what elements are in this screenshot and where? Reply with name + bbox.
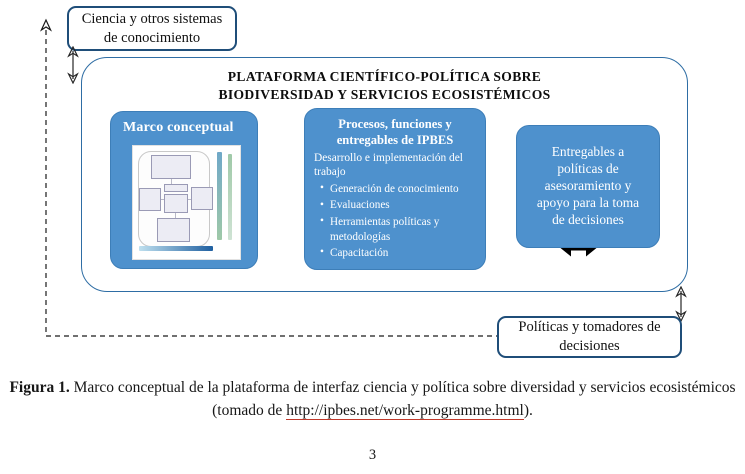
thumbnail-box-bottom [157, 218, 190, 242]
deliverables-line4: apoyo para la toma [537, 195, 639, 210]
figure-caption: Figura 1. Marco conceptual de la platafo… [0, 376, 745, 423]
platform-title-line1: PLATAFORMA CIENTÍFICO-POLÍTICA SOBRE [228, 69, 541, 84]
processes-functions-deliverables-panel[interactable]: Procesos, funciones y entregables de IPB… [304, 108, 486, 270]
platform-title: PLATAFORMA CIENTÍFICO-POLÍTICA SOBRE BIO… [82, 68, 687, 104]
figure-caption-text-after: ). [524, 402, 533, 419]
deliverables-line3: asesoramiento y [545, 178, 632, 193]
processes-bullet-list: Generación de conocimiento Evaluaciones … [313, 182, 477, 261]
conceptual-framework-title: Marco conceptual [123, 120, 234, 136]
page-number: 3 [0, 447, 745, 464]
deliverables-line5: de decisiones [552, 212, 624, 227]
list-item: Capacitación [330, 246, 477, 261]
thumbnail-box-right [191, 187, 213, 210]
science-label-line2: de conocimiento [104, 30, 200, 46]
processes-title-line2: entregables de IPBES [337, 133, 454, 147]
thumbnail-connector-1 [171, 179, 172, 184]
policy-label-line2: decisiones [559, 338, 619, 354]
platform-title-line2: BIODIVERSIDAD Y SERVICIOS ECOSISTÉMICOS [218, 87, 550, 102]
thumbnail-connector-3 [188, 199, 191, 200]
deliverables-line1: Entregables a [552, 144, 625, 159]
figure-diagram: Ciencia y otros sistemas de conocimiento… [0, 0, 745, 372]
science-knowledge-systems-label: Ciencia y otros sistemas de conocimiento [82, 10, 223, 47]
deliverables-line2: políticas de [557, 161, 618, 176]
processes-panel-subtitle: Desarrollo e implementación del trabajo [314, 152, 477, 179]
figure-caption-label: Figura 1. [9, 379, 69, 396]
thumbnail-connector-2 [161, 199, 164, 200]
arrow-up-down-icon-left [64, 46, 82, 84]
policy-label-line1: Políticas y tomadores de [518, 319, 660, 335]
thumbnail-box-top [151, 155, 191, 179]
processes-title-line1: Procesos, funciones y [338, 117, 451, 131]
science-label-line1: Ciencia y otros sistemas [82, 11, 223, 27]
thumbnail-box-center [164, 194, 188, 213]
conceptual-framework-panel[interactable]: Marco conceptual [110, 111, 258, 269]
thumbnail-box-center-top [164, 184, 188, 192]
processes-panel-title: Procesos, funciones y entregables de IPB… [315, 117, 475, 148]
list-item: Generación de conocimiento [330, 182, 477, 197]
thumbnail-connector-4 [175, 213, 176, 218]
policies-decision-makers-box[interactable]: Políticas y tomadores de decisiones [497, 316, 682, 358]
list-item: Herramientas políticas y metodologías [330, 215, 477, 245]
science-knowledge-systems-box[interactable]: Ciencia y otros sistemas de conocimiento [67, 6, 237, 51]
thumbnail-box-left [139, 188, 161, 211]
policies-decision-makers-label: Políticas y tomadores de decisiones [518, 318, 660, 355]
conceptual-framework-thumbnail[interactable] [132, 145, 241, 260]
policy-deliverables-text: Entregables a políticas de asesoramiento… [530, 144, 646, 228]
policy-deliverables-panel[interactable]: Entregables a políticas de asesoramiento… [516, 125, 660, 248]
platform-container: PLATAFORMA CIENTÍFICO-POLÍTICA SOBRE BIO… [81, 57, 688, 292]
thumbnail-arrow-horizontal [139, 246, 213, 251]
thumbnail-arrow-vertical-1 [217, 152, 222, 240]
list-item: Evaluaciones [330, 198, 477, 213]
thumbnail-arrow-vertical-2 [228, 154, 232, 240]
figure-source-link[interactable]: http://ipbes.net/work-programme.html [286, 402, 524, 420]
